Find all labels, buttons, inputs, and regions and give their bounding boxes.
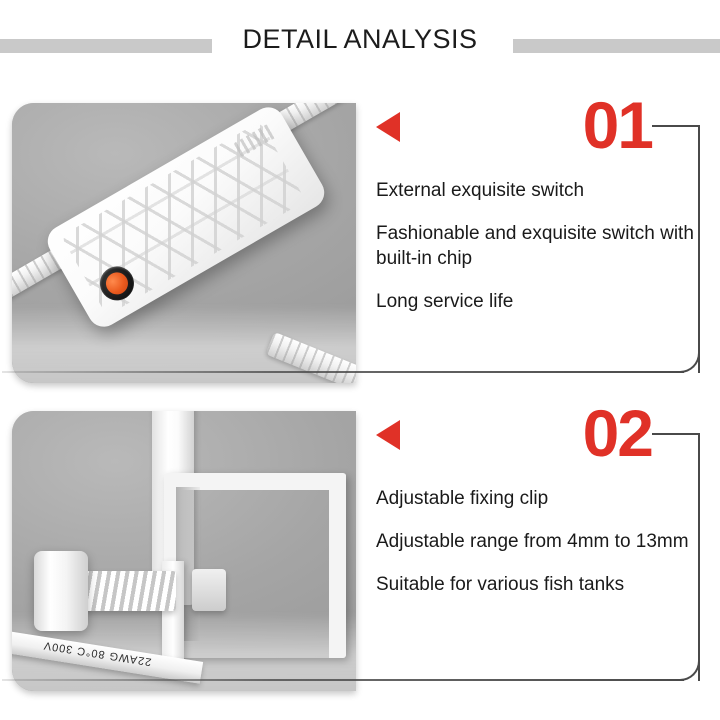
feature-line: Long service life: [376, 289, 706, 314]
bracket-rule-bottom: [2, 679, 684, 681]
switch-illustration: [12, 103, 356, 383]
feature-line: External exquisite switch: [376, 178, 706, 203]
feature-line: Adjustable fixing clip: [376, 486, 706, 511]
bracket-rule-bottom: [2, 371, 684, 373]
left-triangle-icon: [376, 420, 400, 450]
thumbscrew-thread: [84, 571, 176, 611]
thumbscrew-nut: [192, 569, 226, 611]
inline-switch-photo: [12, 103, 356, 383]
bracket-rule-top: [652, 125, 700, 127]
cable-bottom-right: [266, 332, 356, 383]
thumbscrew-knob: [34, 551, 88, 631]
section-02-feature-list: Adjustable fixing clip Adjustable range …: [376, 486, 706, 597]
bracket-rule-corner: [676, 349, 700, 373]
power-button-icon: [102, 268, 132, 298]
page-title: DETAIL ANALYSIS: [0, 24, 720, 55]
clip-illustration: 22AWG 80°C 300V: [12, 411, 356, 691]
page-header: DETAIL ANALYSIS: [0, 24, 720, 70]
section-02: 22AWG 80°C 300V 02 Adjustable fixing cli…: [0, 408, 720, 696]
bracket-rule-top: [652, 433, 700, 435]
section-01-feature-list: External exquisite switch Fashionable an…: [376, 178, 706, 314]
detail-analysis-page: DETAIL ANALYSIS: [0, 0, 720, 720]
feature-line: Suitable for various fish tanks: [376, 572, 716, 597]
switch-texture-pattern: [61, 121, 306, 316]
switch-housing: [42, 103, 330, 332]
feature-line: Adjustable range from 4mm to 13mm: [376, 529, 706, 554]
section-01-content: 01 External exquisite switch Fashionable…: [372, 100, 720, 388]
bracket-rule-corner: [676, 657, 700, 681]
section-number: 01: [583, 92, 652, 158]
fixing-clip-photo: 22AWG 80°C 300V: [12, 411, 356, 691]
cable-ribs: [266, 332, 356, 383]
section-01: 01 External exquisite switch Fashionable…: [0, 100, 720, 388]
section-number: 02: [583, 400, 652, 466]
section-02-content: 02 Adjustable fixing clip Adjustable ran…: [372, 408, 720, 696]
left-triangle-icon: [376, 112, 400, 142]
feature-line: Fashionable and exquisite switch with bu…: [376, 221, 706, 271]
